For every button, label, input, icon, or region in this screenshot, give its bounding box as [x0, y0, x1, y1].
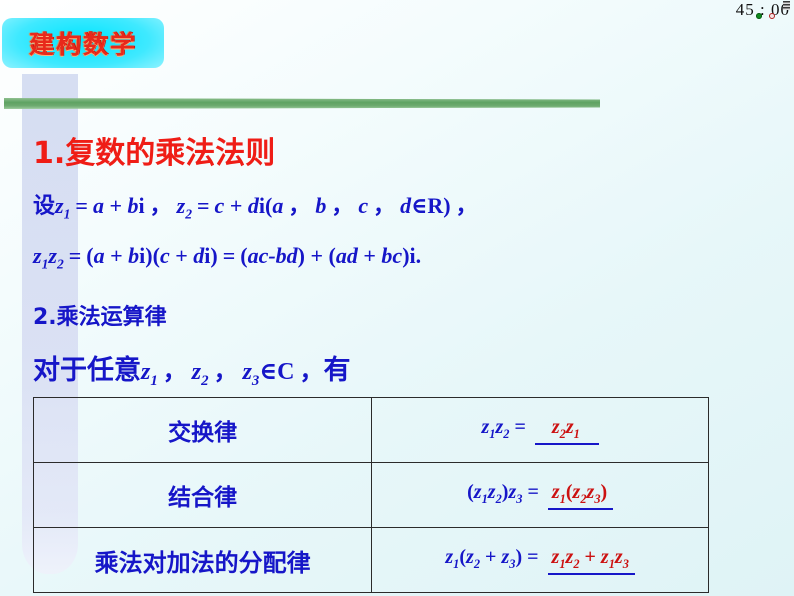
slide-canvas: 建构数学 45 : 00 1.复数的乘法法则 设z1=a + bi，z2=c +…	[0, 0, 794, 596]
law-name-cell: 结合律	[34, 463, 372, 528]
formula-prefix-she: 设	[33, 194, 55, 219]
timer-dot-red-icon	[769, 13, 775, 19]
timer-status-dots	[756, 13, 782, 22]
logo-plaque: 建构数学	[2, 18, 164, 68]
law-expression: (z1z2)z3 = z1(z2z3)	[467, 481, 613, 503]
law-name-label: 乘法对加法的分配律	[95, 549, 311, 577]
law-name-label: 结合律	[168, 485, 237, 511]
law-expression-cell: (z1z2)z3 = z1(z2z3)	[372, 463, 709, 528]
logo-label: 建构数学	[2, 18, 164, 68]
formula-product-expansion: z1z2=(a + bi)(c + di)=(ac-bd) + (ad + bc…	[33, 243, 421, 272]
law-answer-blank[interactable]: z2z1	[535, 416, 599, 445]
heading-multiplication-laws: 2.乘法运算律	[33, 299, 167, 331]
law-expression: z1(z2 + z3) = z1z2 + z1z3	[445, 546, 635, 568]
law-expression-cell: z1z2 = z2z1	[372, 398, 709, 463]
law-expression: z1z2 = z2z1	[481, 416, 598, 438]
timer-dot-green-icon	[756, 13, 762, 19]
table-row: 交换律 z1z2 = z2z1	[34, 398, 709, 463]
formula-prefix-for-any: 对于任意	[33, 355, 141, 386]
law-expression-cell: z1(z2 + z3) = z1z2 + z1z3	[372, 528, 709, 593]
table-row: 结合律 (z1z2)z3 = z1(z2z3)	[34, 463, 709, 528]
law-name-cell: 交换律	[34, 398, 372, 463]
timer-badge-icon	[783, 1, 790, 10]
law-answer-blank[interactable]: z1(z2z3)	[548, 481, 613, 510]
table-row: 乘法对加法的分配律 z1(z2 + z3) = z1z2 + z1z3	[34, 528, 709, 593]
green-divider-bar	[4, 98, 600, 109]
timer: 45 : 00	[736, 0, 790, 19]
multiplication-laws-table: 交换律 z1z2 = z2z1 结合律 (z1z2)z3 = z1(z2z3)	[33, 397, 709, 593]
heading-multiplication-rule: 1.复数的乘法法则	[33, 128, 275, 172]
law-name-cell: 乘法对加法的分配律	[34, 528, 372, 593]
law-answer-blank[interactable]: z1z2 + z1z3	[548, 546, 635, 575]
formula-definition: 设z1=a + bi，z2=c + di(a，b，c，d∈R)，	[33, 188, 478, 222]
formula-for-any-complex: 对于任意z1，z2，z3∈C，有	[33, 348, 350, 390]
law-name-label: 交换律	[168, 420, 237, 446]
